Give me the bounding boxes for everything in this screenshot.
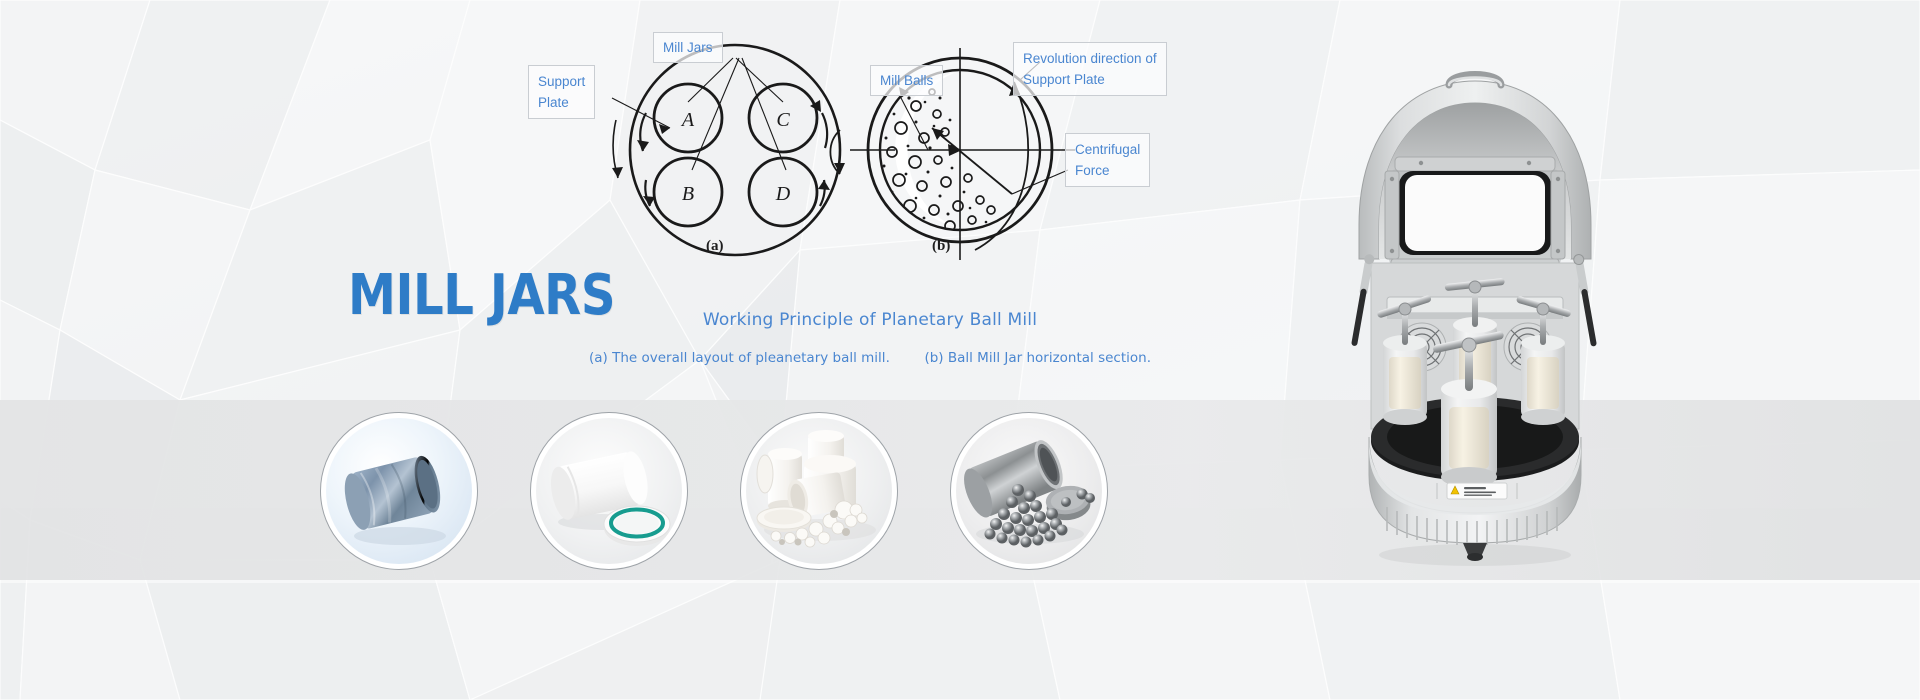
label-revolution-line1: Revolution direction of [1023,48,1157,69]
svg-text:B: B [682,183,694,205]
svg-text:D: D [775,183,791,205]
alumina-ceramic-jar-image [746,418,892,564]
machine-window [1385,157,1565,269]
nylon-mill-jar-image [536,418,682,564]
label-support-plate-line2: Plate [538,92,585,113]
label-centrifugal-line2: Force [1075,160,1140,181]
label-support-plate-line1: Support [538,71,585,92]
mill-jars-banner: MILL JARS [0,0,1920,700]
label-support-plate: Support Plate [528,65,595,119]
product-thumbnail-row [320,412,1150,572]
label-revolution-line2: Support Plate [1023,69,1157,90]
label-centrifugal-force: Centrifugal Force [1065,133,1150,187]
product-thumb-stainless-steel-jar[interactable] [950,412,1108,570]
label-mill-jars: Mill Jars [653,32,723,63]
svg-text:C: C [776,109,790,131]
subfigure-label-b: (b) [932,238,950,255]
product-thumb-alumina-ceramic-jar[interactable] [740,412,898,570]
planetary-ball-mill-image [1325,45,1625,575]
diagram-caption-a: (a) The overall layout of pleanetary bal… [589,350,890,366]
label-mill-balls: Mill Balls [870,65,943,96]
subfigure-label-a: (a) [706,238,724,255]
agate-mill-jar-image [326,418,472,564]
diagram-caption-title: Working Principle of Planetary Ball Mill [520,310,1220,330]
diagram-caption-subtitles: (a) The overall layout of pleanetary bal… [520,350,1220,366]
label-revolution-direction: Revolution direction of Support Plate [1013,42,1167,96]
stainless-steel-jar-image [956,418,1102,564]
diagram-caption-b: (b) Ball Mill Jar horizontal section. [924,350,1151,366]
product-thumb-nylon-mill-jar[interactable] [530,412,688,570]
svg-text:A: A [680,109,695,131]
working-principle-diagram: A C B D [520,10,1220,400]
product-thumb-agate-mill-jar[interactable] [320,412,478,570]
label-centrifugal-line1: Centrifugal [1075,139,1140,160]
